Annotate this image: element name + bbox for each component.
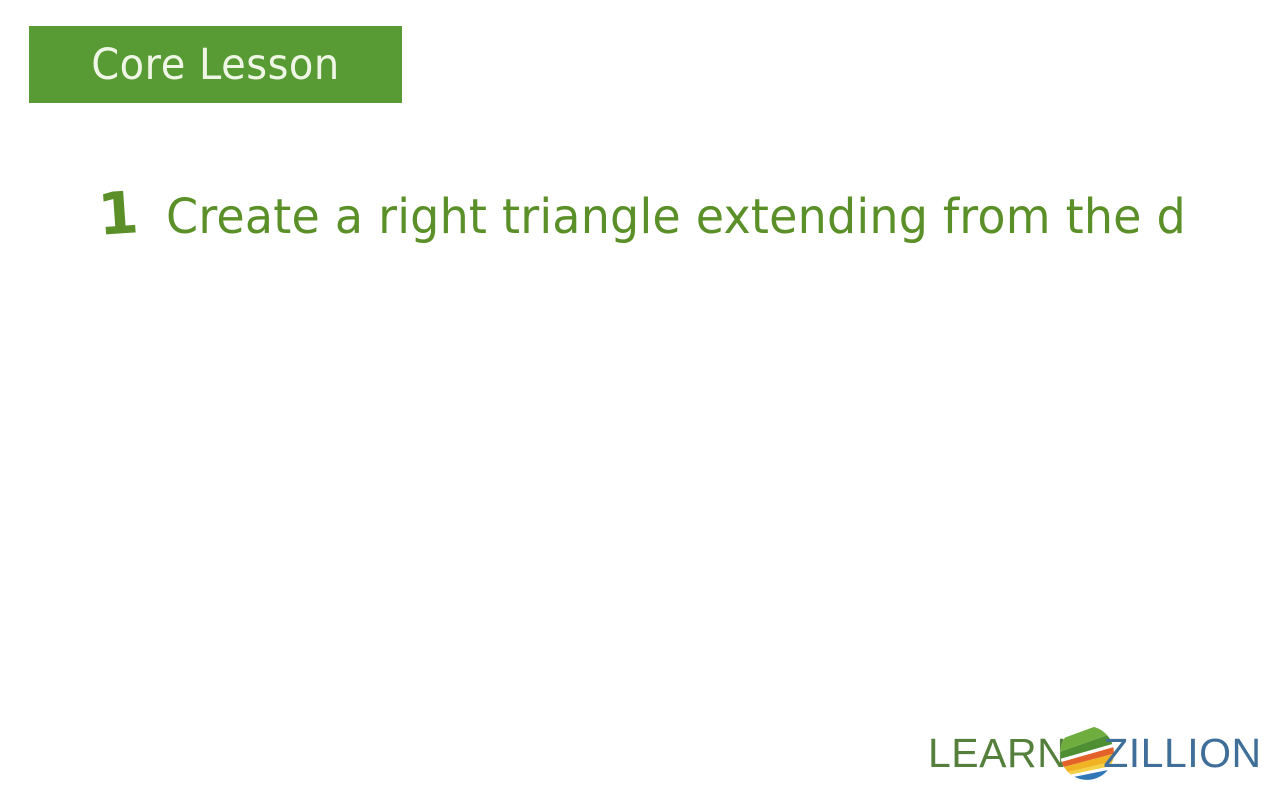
step-text: Create a right triangle extending from t…: [166, 186, 1206, 246]
core-lesson-banner: Core Lesson: [29, 26, 402, 103]
core-lesson-banner-label: Core Lesson: [91, 43, 340, 85]
logo-word-learn: LEARN: [928, 733, 1067, 774]
step-number: 1: [96, 181, 170, 244]
learnzillion-logo: LEARN: [928, 722, 1268, 784]
instruction-step: 1 Create a right triangle extending from…: [96, 186, 1206, 244]
slide-canvas: Core Lesson 1 Create a right triangle ex…: [0, 0, 1280, 800]
logo-word-zillion: ZILLION: [1103, 733, 1261, 774]
